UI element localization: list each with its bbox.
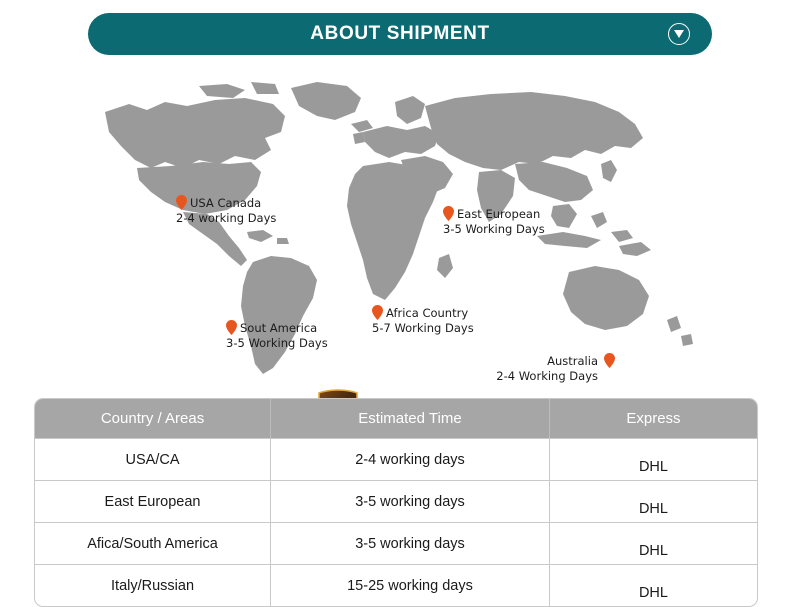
map-label-time: 3-5 Working Days [226, 336, 328, 351]
cell-country: Italy/Russian [35, 564, 271, 606]
cell-estimated-time: 15-25 working days [271, 564, 550, 606]
location-pin-icon [176, 195, 187, 210]
map-marker-east-european: East European 3-5 Working Days [443, 207, 545, 237]
location-pin-icon [372, 305, 383, 320]
location-pin-icon [443, 206, 454, 221]
map-label-region: USA Canada [176, 196, 276, 211]
table-row: Italy/Russian 15-25 working days DHL [35, 564, 757, 606]
cell-estimated-time: 3-5 working days [271, 522, 550, 564]
shipping-info-table: Country / Areas Estimated Time Express U… [34, 398, 758, 607]
map-label-time: 5-7 Working Days [372, 321, 474, 336]
page-title: ABOUT SHIPMENT [310, 23, 489, 45]
column-header-express: Express [550, 399, 757, 438]
column-header-estimated-time: Estimated Time [271, 399, 550, 438]
world-map-section: USA Canada 2-4 working Days East Europea… [0, 68, 800, 388]
cell-country: USA/CA [35, 438, 271, 480]
cell-estimated-time: 3-5 working days [271, 480, 550, 522]
location-pin-icon [604, 353, 615, 368]
map-label-region: Sout America [226, 321, 328, 336]
map-label-time: 2-4 Working Days [496, 369, 598, 384]
map-marker-south-america: Sout America 3-5 Working Days [226, 321, 328, 351]
about-shipment-banner[interactable]: ABOUT SHIPMENT [88, 13, 712, 55]
map-label-time: 2-4 working Days [176, 211, 276, 226]
map-label-region: Africa Country [372, 306, 474, 321]
cell-express: DHL [550, 522, 757, 564]
cell-country: Afica/South America [35, 522, 271, 564]
table-row: East European 3-5 working days DHL [35, 480, 757, 522]
table-header-row: Country / Areas Estimated Time Express [35, 399, 757, 438]
cell-estimated-time: 2-4 working days [271, 438, 550, 480]
cell-express: DHL [550, 564, 757, 606]
column-header-country: Country / Areas [35, 399, 271, 438]
map-label-region: Australia [547, 354, 598, 369]
table-row: Afica/South America 3-5 working days DHL [35, 522, 757, 564]
chevron-down-circle-icon[interactable] [668, 23, 690, 45]
location-pin-icon [226, 320, 237, 335]
table-row: USA/CA 2-4 working days DHL [35, 438, 757, 480]
cell-express: DHL [550, 480, 757, 522]
map-label-time: 3-5 Working Days [443, 222, 545, 237]
cell-express: DHL [550, 438, 757, 480]
map-marker-usa-canada: USA Canada 2-4 working Days [176, 196, 276, 226]
cell-country: East European [35, 480, 271, 522]
map-marker-africa: Africa Country 5-7 Working Days [372, 306, 474, 336]
chevron-down-glyph [674, 30, 684, 38]
map-label-region: East European [443, 207, 545, 222]
